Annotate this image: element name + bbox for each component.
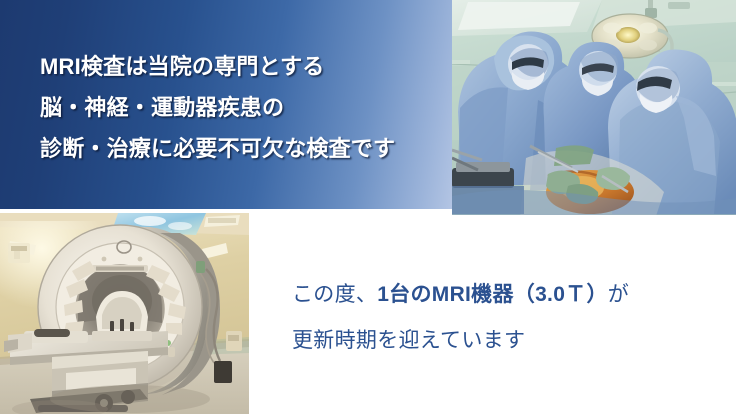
operating-room-photo	[452, 0, 736, 215]
notice-segment-plain-3: 更新時期を迎えています	[292, 329, 525, 352]
banner-line-3: 診断・治療に必要不可欠な検査です	[40, 128, 450, 169]
banner-text-block: MRI検査は当院の専門とする 脳・神経・運動器疾患の 診断・治療に必要不可欠な検…	[40, 46, 450, 169]
notice-segment-bold-1: 1台のMRI機器（3.0Ｔ）	[377, 283, 608, 306]
update-notice: この度、1台のMRI機器（3.0Ｔ）が 更新時期を迎えています	[292, 272, 722, 364]
banner-line-1: MRI検査は当院の専門とする	[40, 46, 450, 87]
notice-segment-plain-1: この度、	[292, 283, 377, 306]
slide-canvas: MRI検査は当院の専門とする 脳・神経・運動器疾患の 診断・治療に必要不可欠な検…	[0, 0, 736, 414]
notice-segment-plain-2: が	[608, 283, 629, 306]
banner-line-2: 脳・神経・運動器疾患の	[40, 87, 450, 128]
update-notice-line-1: この度、1台のMRI機器（3.0Ｔ）が	[292, 272, 722, 318]
update-notice-line-2: 更新時期を迎えています	[292, 318, 722, 364]
operating-room-illustration	[452, 0, 736, 215]
mri-scanner-photo	[0, 213, 249, 414]
mri-scanner-illustration	[0, 213, 249, 414]
top-blue-banner: MRI検査は当院の専門とする 脳・神経・運動器疾患の 診断・治療に必要不可欠な検…	[0, 0, 460, 209]
